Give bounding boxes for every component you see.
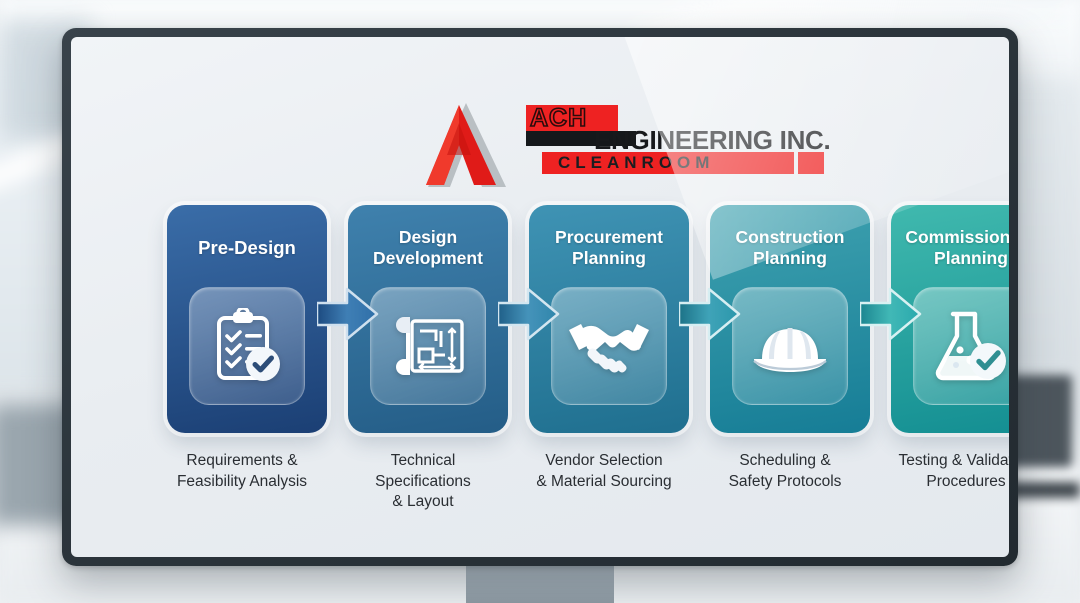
flow-step-card-pre-design[interactable]: Pre-Design [167, 205, 327, 433]
arrow-right-icon-3 [679, 283, 741, 345]
arrow-right-icon-2 [498, 283, 560, 345]
flow-step-caption-2: Technical Specifications & Layout [328, 451, 518, 513]
caption-line: Testing & Validation [899, 452, 1010, 469]
handshake-icon [551, 287, 667, 405]
caption-line: Scheduling & [739, 452, 830, 469]
flow-step-title-line-1: Commissioning [905, 227, 1009, 247]
caption-line: Safety Protocols [729, 473, 842, 490]
caption-line: Feasibility Analysis [177, 473, 307, 490]
blueprint-floorplan-icon [370, 287, 486, 405]
flow-step-title: Procurement Planning [535, 227, 683, 269]
logo-company-name: ENGINEERING INC. [594, 125, 830, 155]
flow-step-caption-4: Scheduling & Safety Protocols [690, 451, 880, 492]
flow-step-title-line-1: Construction [736, 227, 845, 247]
flow-step-title: Design Development [354, 227, 502, 269]
flow-step-title-line-2: Planning [753, 248, 827, 268]
flow-step-title-line-1: Procurement [555, 227, 663, 247]
flow-step-caption-5: Testing & Validation Procedures [871, 451, 1009, 492]
monitor-screen: ACH ENGINEERING INC. CLEANROOM Pre-Desig… [71, 37, 1009, 557]
logo-acronym: ACH [530, 105, 587, 132]
flow-step-title: Commissioning Planning [897, 227, 1009, 269]
arrow-right-icon-1 [317, 283, 379, 345]
flow-step-title-line-1: Design [399, 227, 457, 247]
caption-line: Vendor Selection [545, 452, 662, 469]
logo-red-bar-tail [798, 152, 824, 174]
hard-hat-icon [732, 287, 848, 405]
process-flow-diagram: Pre-Design [167, 205, 1009, 440]
flask-check-icon [913, 287, 1009, 405]
flow-step-title-line-2: Planning [572, 248, 646, 268]
clipboard-checklist-icon [189, 287, 305, 405]
logo-wordmark: ACH ENGINEERING INC. CLEANROOM [526, 105, 826, 185]
flow-step-caption-1: Requirements & Feasibility Analysis [147, 451, 337, 492]
monitor-stand-neck [466, 566, 614, 603]
company-logo: ACH ENGINEERING INC. CLEANROOM [426, 99, 826, 191]
flow-step-title: Pre-Design [173, 237, 321, 258]
flow-step-title: Construction Planning [716, 227, 864, 269]
flow-step-title-line-2: Planning [934, 248, 1008, 268]
caption-line: & Layout [392, 493, 453, 510]
caption-line: Procedures [926, 473, 1005, 490]
caption-line: Specifications [375, 473, 471, 490]
flow-step-title-line-2: Development [373, 248, 483, 268]
logo-tagline: CLEANROOM [558, 152, 714, 174]
monitor-bezel: ACH ENGINEERING INC. CLEANROOM Pre-Desig… [62, 28, 1018, 566]
arrow-right-icon-4 [860, 283, 922, 345]
caption-line: & Material Sourcing [536, 473, 671, 490]
caption-line: Technical [391, 452, 456, 469]
caption-line: Requirements & [186, 452, 297, 469]
flow-step-caption-3: Vendor Selection & Material Sourcing [509, 451, 699, 492]
triangle-a-logo-icon [426, 101, 508, 189]
